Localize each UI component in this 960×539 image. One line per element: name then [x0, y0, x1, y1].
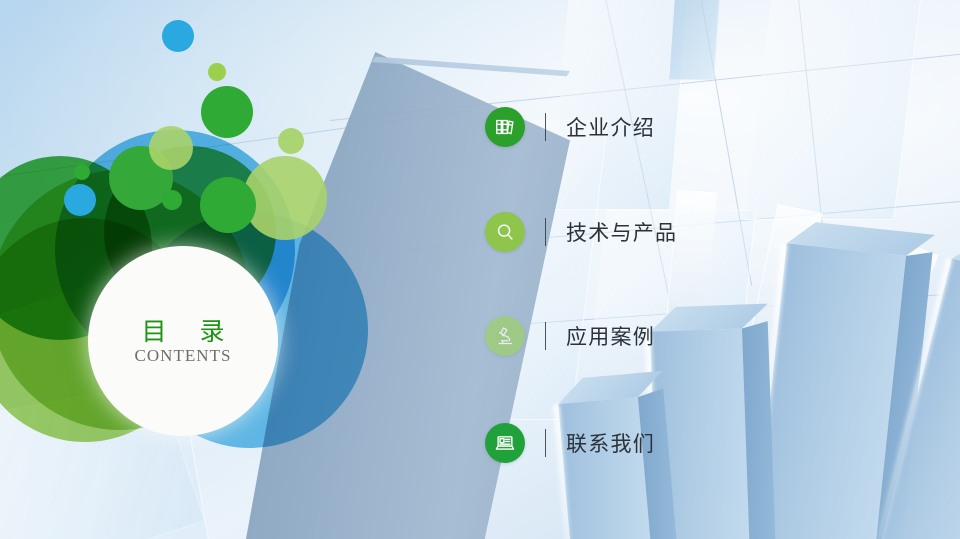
decor-bubble: [162, 20, 194, 52]
menu-item-divider: [545, 113, 546, 141]
menu-item[interactable]: 联系我们: [485, 420, 655, 466]
menu-item-label: 技术与产品: [566, 217, 677, 247]
decor-bubble: [74, 164, 90, 180]
page-title-cn: 目 录: [129, 317, 237, 347]
decor-bubble: [162, 190, 182, 210]
contents-menu: 企业介绍 技术与产品 应用案例 联系我们: [485, 0, 905, 539]
menu-item-divider: [545, 322, 546, 350]
menu-item[interactable]: 企业介绍: [485, 104, 655, 150]
decor-bubble: [149, 126, 193, 170]
microscope-icon[interactable]: [485, 316, 525, 356]
menu-item-divider: [545, 218, 546, 246]
decor-bubble: [243, 156, 327, 240]
menu-item[interactable]: 应用案例: [485, 313, 655, 359]
decor-bubble: [201, 86, 253, 138]
menu-item-label: 企业介绍: [566, 112, 655, 142]
menu-item-divider: [545, 429, 546, 457]
laptop-icon[interactable]: [485, 423, 525, 463]
menu-item-label: 联系我们: [566, 428, 655, 458]
decor-bubble: [200, 177, 256, 233]
decor-bubble: [64, 184, 96, 216]
contents-title-disc: 目 录 CONTENTS: [88, 246, 278, 436]
slide-canvas: 目 录 CONTENTS 企业介绍 技术与产品 应用案例 联系我们: [0, 0, 960, 539]
books-icon[interactable]: [485, 107, 525, 147]
page-title-en: CONTENTS: [135, 346, 232, 366]
magnifier-icon[interactable]: [485, 212, 525, 252]
decor-bubble: [278, 128, 304, 154]
menu-item[interactable]: 技术与产品: [485, 209, 677, 255]
menu-item-label: 应用案例: [566, 321, 655, 351]
decor-bubble: [208, 63, 226, 81]
